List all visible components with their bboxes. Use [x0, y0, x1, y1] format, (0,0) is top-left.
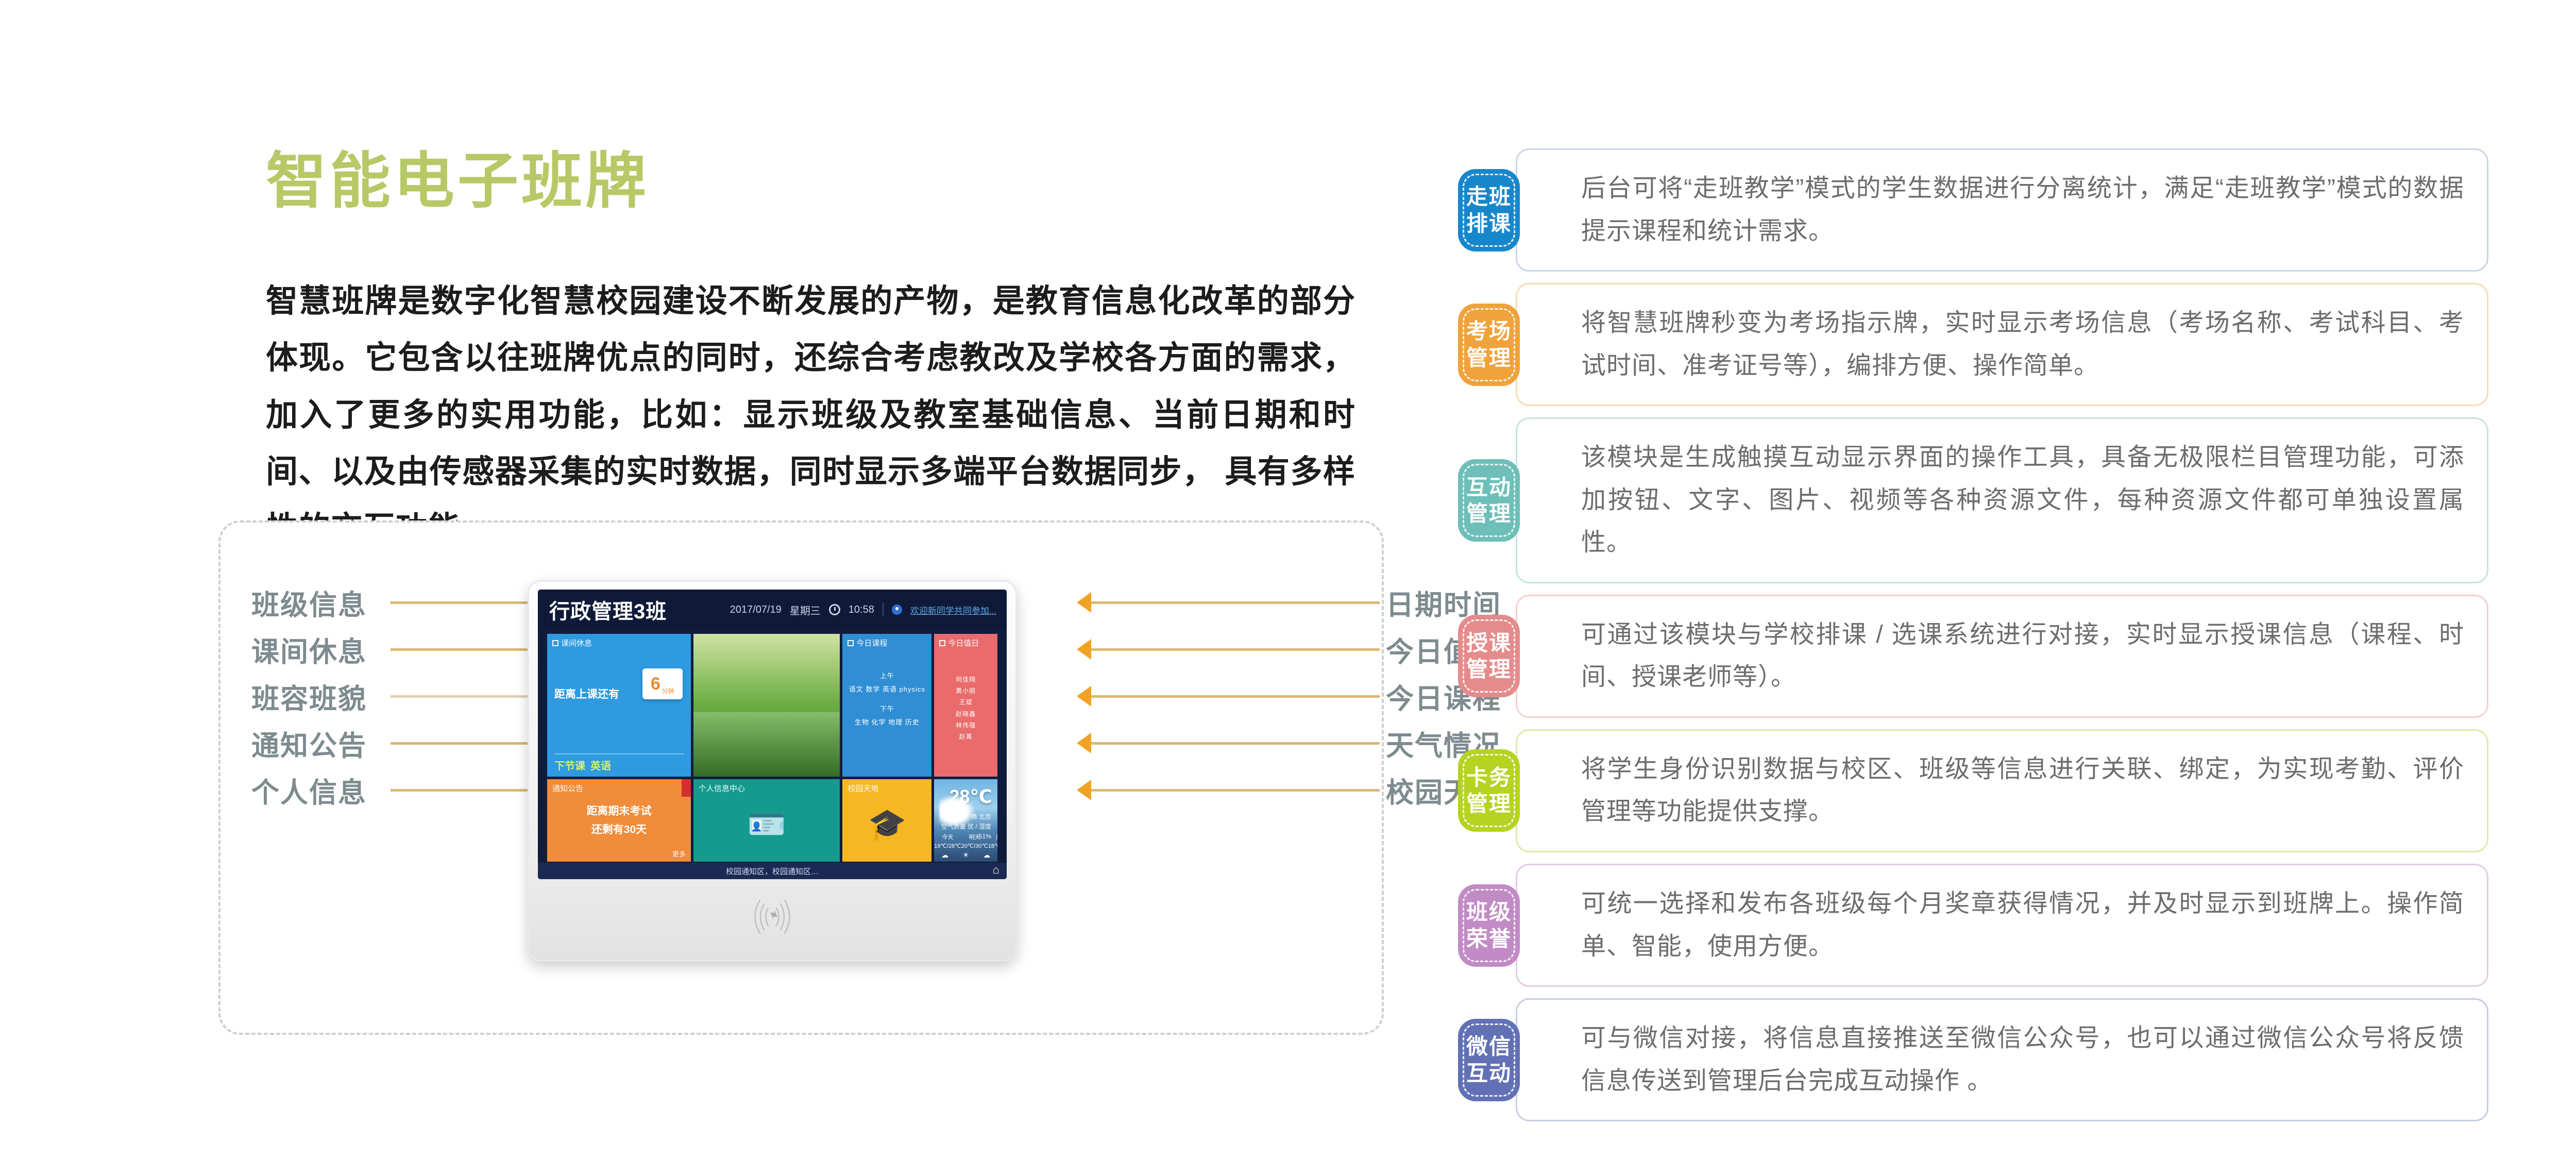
feature-card-4[interactable]: 将学生身份识别数据与校区、班级等信息进行关联、绑定，为实现考勤、评价管理等功能提…	[1516, 729, 2488, 852]
bell-icon	[552, 640, 558, 646]
calendar-icon	[848, 640, 854, 646]
feature-badge-line1-0: 走班	[1466, 183, 1512, 210]
duty-name-3: 赵晓鑫	[934, 708, 997, 719]
tile-break[interactable]: 课间休息 距离上课还有 6 分钟 下节课 英语	[547, 634, 691, 777]
feature-row-0: 后台可将“走班教学”模式的学生数据进行分离统计，满足“走班教学”模式的数据提示课…	[1458, 148, 2488, 272]
diagram-label-left-1: 课间休息	[251, 629, 367, 670]
feature-row-4: 将学生身份识别数据与校区、班级等信息进行关联、绑定，为实现考勤、评价管理等功能提…	[1458, 729, 2488, 852]
feature-row-6: 可与微信对接，将信息直接推送至微信公众号，也可以通过微信公众号将反馈信息传送到管…	[1458, 998, 2488, 1121]
notice-body: 距离期末考试 还剩有30天	[547, 802, 691, 838]
course-am-label: 上午	[842, 669, 931, 683]
feature-list: 后台可将“走班教学”模式的学生数据进行分离统计，满足“走班教学”模式的数据提示课…	[1458, 148, 2488, 1133]
feature-badge-line1-5: 班级	[1466, 899, 1512, 925]
forecast-icon-1: ☀	[962, 851, 969, 860]
page-title: 智能电子班牌	[266, 147, 649, 215]
screen-top-bar: 行政管理3班 2017/07/19 星期三 10:58 欢迎新同学共同参加...	[538, 590, 1007, 630]
feature-text-1: 将智慧班牌秒变为考场指示牌，实时显示考场信息（考场名称、考试科目、考试时间、准考…	[1581, 302, 2464, 387]
duty-name-2: 王斌	[934, 697, 997, 708]
pin-icon	[892, 604, 902, 615]
tile-break-title: 课间休息	[561, 637, 592, 648]
next-class-value: 英语	[590, 758, 611, 772]
feature-badge-5[interactable]: 班级荣誉	[1458, 884, 1520, 967]
tile-today-course[interactable]: 今日课程 上午 语文 数学 英语 physics 下午 生物 化学 地理 历史	[842, 634, 931, 777]
forecast-day-1: 明天	[961, 833, 988, 842]
id-card-icon: 🪪	[748, 809, 786, 840]
tile-notice-header: 通知公告	[552, 783, 583, 794]
feature-badge-line1-3: 授课	[1466, 630, 1512, 656]
screen-time: 10:58	[849, 604, 874, 616]
feature-badge-line1-2: 互动	[1466, 474, 1512, 500]
tile-course-title: 今日课程	[856, 637, 887, 648]
notice-corner-flag	[682, 779, 691, 797]
tablet-screen: 行政管理3班 2017/07/19 星期三 10:58 欢迎新同学共同参加...	[538, 590, 1007, 879]
feature-badge-line2-3: 管理	[1466, 656, 1512, 682]
diagram-label-left-4: 个人信息	[251, 770, 367, 811]
leader-line-left-1	[391, 648, 530, 651]
feature-card-1[interactable]: 将智慧班牌秒变为考场指示牌，实时显示考场信息（考场名称、考试科目、考试时间、准考…	[1516, 283, 2488, 406]
next-class-row: 下节课 英语	[554, 753, 684, 772]
feature-row-2: 该模块是生成触摸互动显示界面的操作工具，具备无极限栏目管理功能，可添加按钮、文字…	[1458, 417, 2488, 583]
course-am-list: 语文 数学 英语 physics	[842, 683, 931, 696]
star-icon	[939, 640, 945, 646]
tile-course-header: 今日课程	[848, 637, 887, 648]
duty-name-list: 何佳翔黄小丽王斌赵晓鑫林伟强赵菁	[934, 674, 997, 743]
feature-badge-3[interactable]: 授课管理	[1458, 615, 1520, 697]
tile-notice[interactable]: 通知公告 距离期末考试 还剩有30天 更多	[547, 779, 691, 862]
tile-campus-header: 校园天地	[848, 783, 878, 794]
next-class-label: 下节课	[554, 758, 585, 772]
diagram-label-left-3: 通知公告	[251, 723, 367, 764]
feature-badge-1[interactable]: 考场管理	[1458, 304, 1520, 386]
course-pm-label: 下午	[842, 702, 931, 716]
forecast-col-0: 今天19℃/28℃	[934, 833, 961, 850]
forecast-range-1: 20℃/30℃	[961, 842, 988, 851]
forecast-range-0: 19℃/28℃	[934, 842, 961, 851]
ticker-text: 校园通知区，校园通知区…	[726, 866, 819, 877]
feature-text-2: 该模块是生成触摸互动显示界面的操作工具，具备无极限栏目管理功能，可添加按钮、文字…	[1581, 436, 2464, 564]
feature-row-5: 可统一选择和发布各班级每个月奖章获得情况，并及时显示到班牌上。操作简单、智能，使…	[1458, 864, 2488, 987]
feature-badge-line1-6: 微信	[1466, 1033, 1512, 1060]
weather-forecast-icons: ☁☀☁	[934, 851, 997, 860]
page-root: 智能电子班牌 智慧班牌是数字化智慧校园建设不断发展的产物，是教育信息化改革的部分…	[0, 0, 2576, 1176]
intro-paragraph: 智慧班牌是数字化智慧校园建设不断发展的产物，是教育信息化改革的部分体现。它包含以…	[266, 273, 1355, 558]
countdown-label: 距离上课还有	[554, 686, 619, 701]
notice-more-link[interactable]: 更多	[672, 849, 686, 859]
forecast-col-1: 明天20℃/30℃	[961, 833, 988, 850]
leader-arrow-right-4	[1077, 780, 1091, 800]
tile-today-duty[interactable]: 今日值日 何佳翔黄小丽王斌赵晓鑫林伟强赵菁	[934, 634, 997, 777]
leader-line-right-0	[1091, 601, 1380, 604]
leader-line-right-2	[1091, 695, 1380, 698]
feature-card-3[interactable]: 可通过该模块与学校排课 / 选课系统进行对接，实时显示授课信息（课程、时间、授课…	[1516, 595, 2488, 718]
feature-card-5[interactable]: 可统一选择和发布各班级每个月奖章获得情况，并及时显示到班牌上。操作简单、智能，使…	[1516, 864, 2488, 987]
tile-campus[interactable]: 校园天地 🎓	[842, 779, 931, 862]
screen-date: 2017/07/19	[730, 604, 782, 616]
forecast-icon-0: ☁	[941, 851, 948, 860]
countdown-value: 6	[651, 675, 660, 693]
diagram-container: 班级信息课间休息班容班貌通知公告个人信息日期时间今日值日今日课程天气情况校园天地…	[218, 520, 1384, 1035]
feature-badge-line2-5: 荣誉	[1466, 926, 1512, 952]
forecast-day-2: 后天	[988, 833, 997, 842]
forecast-icon-2: ☁	[983, 851, 990, 860]
leader-arrow-right-2	[1077, 686, 1091, 707]
tile-profile-header: 个人信息中心	[699, 783, 745, 794]
feature-badge-6[interactable]: 微信互动	[1458, 1019, 1520, 1101]
feature-badge-line2-2: 管理	[1466, 500, 1512, 527]
weather-temperature: 28℃	[949, 786, 992, 808]
screen-ticker: 校园通知区，校园通知区… ⌂	[538, 863, 1007, 879]
forecast-range-2: 18℃/27℃	[988, 842, 997, 851]
tile-profile-center[interactable]: 个人信息中心 🪪	[693, 779, 840, 862]
leader-line-left-2	[391, 695, 530, 698]
screen-weekday: 星期三	[790, 602, 821, 617]
home-icon[interactable]: ⌂	[993, 863, 999, 877]
feature-badge-line2-0: 排课	[1466, 210, 1512, 237]
duty-name-5: 赵菁	[934, 731, 997, 742]
feature-badge-line1-4: 卡务	[1466, 764, 1512, 791]
leader-arrow-right-0	[1077, 592, 1091, 613]
clock-icon	[829, 604, 840, 615]
diagram-label-left-0: 班级信息	[251, 582, 367, 623]
feature-card-0[interactable]: 后台可将“走班教学”模式的学生数据进行分离统计，满足“走班教学”模式的数据提示课…	[1516, 148, 2488, 272]
nfc-wave-icon	[741, 896, 803, 938]
course-pm-list: 生物 化学 地理 历史	[842, 716, 931, 729]
feature-badge-line1-1: 考场	[1466, 318, 1512, 344]
feature-badge-line2-4: 管理	[1466, 791, 1512, 817]
feature-card-2[interactable]: 该模块是生成触摸互动显示界面的操作工具，具备无极限栏目管理功能，可添加按钮、文字…	[1516, 417, 2488, 583]
notice-line-1: 距离期末考试	[547, 802, 691, 820]
feature-badge-line2-6: 互动	[1466, 1060, 1512, 1086]
tile-break-header: 课间休息	[552, 637, 592, 648]
duty-name-1: 黄小丽	[934, 685, 997, 697]
forecast-col-2: 后天18℃/27℃	[988, 833, 997, 850]
graduation-cap-icon: 🎓	[868, 809, 906, 840]
leader-line-left-3	[391, 742, 530, 745]
weather-forecast-days: 今天19℃/28℃明天20℃/30℃后天18℃/27℃	[934, 833, 997, 850]
feature-text-3: 可通过该模块与学校排课 / 选课系统进行对接，实时显示授课信息（课程、时间、授课…	[1581, 614, 2464, 699]
tile-notice-title: 通知公告	[552, 783, 583, 794]
leader-line-right-3	[1091, 742, 1380, 745]
feature-badge-2[interactable]: 互动管理	[1458, 459, 1520, 542]
leader-arrow-right-3	[1077, 733, 1091, 753]
feature-text-4: 将学生身份识别数据与校区、班级等信息进行关联、绑定，为实现考勤、评价管理等功能提…	[1581, 748, 2464, 833]
leader-line-right-1	[1091, 648, 1380, 651]
leader-line-right-4	[1091, 789, 1380, 792]
feature-card-6[interactable]: 可与微信对接，将信息直接推送至微信公众号，也可以通过微信公众号将反馈信息传送到管…	[1516, 998, 2488, 1121]
forecast-day-0: 今天	[934, 833, 961, 842]
duty-name-4: 林伟强	[934, 719, 997, 731]
feature-text-5: 可统一选择和发布各班级每个月奖章获得情况，并及时显示到班牌上。操作简单、智能，使…	[1581, 883, 2464, 968]
leader-line-left-0	[391, 601, 530, 604]
screen-link[interactable]: 欢迎新同学共同参加...	[910, 603, 996, 616]
weather-city: 晴 北京	[934, 812, 991, 822]
tile-class-photo[interactable]	[693, 634, 840, 777]
feature-badge-0[interactable]: 走班排课	[1458, 169, 1520, 251]
leader-line-left-4	[391, 789, 530, 792]
feature-row-3: 可通过该模块与学校排课 / 选课系统进行对接，实时显示授课信息（课程、时间、授课…	[1458, 595, 2488, 718]
screen-tile-grid: 课间休息 距离上课还有 6 分钟 下节课 英语	[547, 634, 997, 862]
screen-class-name: 行政管理3班	[549, 595, 667, 625]
countdown-unit: 分钟	[662, 686, 674, 695]
countdown-tag: 6 分钟	[642, 668, 683, 699]
course-schedule: 上午 语文 数学 英语 physics 下午 生物 化学 地理 历史	[842, 669, 931, 729]
notice-line-2: 还剩有30天	[547, 820, 691, 839]
diagram-label-left-2: 班容班貌	[251, 676, 367, 717]
screen-meta: 2017/07/19 星期三 10:58 欢迎新同学共同参加...	[730, 602, 996, 617]
leader-arrow-right-1	[1077, 639, 1091, 660]
feature-text-0: 后台可将“走班教学”模式的学生数据进行分离统计，满足“走班教学”模式的数据提示课…	[1581, 167, 2464, 253]
feature-row-1: 将智慧班牌秒变为考场指示牌，实时显示考场信息（考场名称、考试科目、考试时间、准考…	[1458, 283, 2488, 406]
divider	[883, 603, 884, 616]
left-column: 智能电子班牌 智慧班牌是数字化智慧校园建设不断发展的产物，是教育信息化改革的部分…	[0, 0, 1422, 1176]
tile-duty-header: 今日值日	[939, 637, 979, 648]
tablet-device: 行政管理3班 2017/07/19 星期三 10:58 欢迎新同学共同参加...	[528, 580, 1017, 962]
feature-text-6: 可与微信对接，将信息直接推送至微信公众号，也可以通过微信公众号将反馈信息传送到管…	[1581, 1017, 2464, 1102]
duty-name-0: 何佳翔	[934, 674, 997, 685]
tile-duty-title: 今日值日	[948, 637, 979, 648]
feature-badge-4[interactable]: 卡务管理	[1458, 749, 1520, 832]
tile-weather[interactable]: 28℃ 晴 北京 空气质量 优 / 湿度 51% 今天19℃/28℃明天20℃/…	[934, 779, 997, 862]
feature-badge-line2-1: 管理	[1466, 345, 1512, 371]
